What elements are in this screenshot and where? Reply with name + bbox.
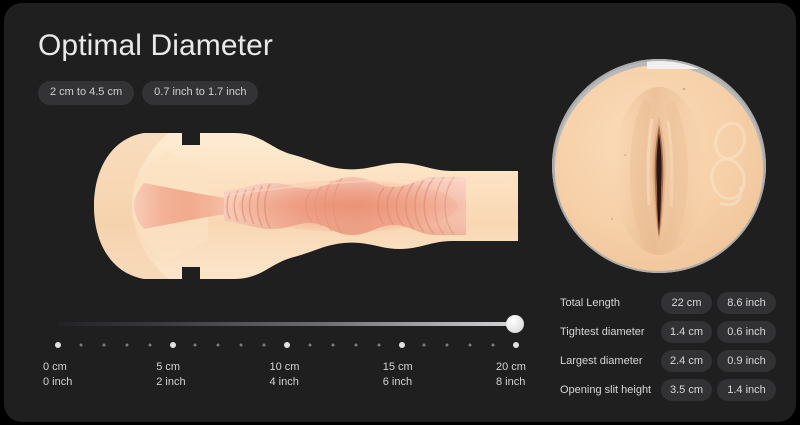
ruler-label-inch: 4 inch: [270, 375, 300, 390]
spec-value-cm: 22 cm: [661, 292, 712, 314]
spec-row: Total Length22 cm8.6 inch: [560, 292, 776, 314]
spec-label: Total Length: [560, 296, 620, 310]
ruler-tick-minor: [79, 344, 82, 347]
range-badge-inch: 0.7 inch to 1.7 inch: [142, 81, 258, 105]
ruler-tick-major: [170, 342, 176, 348]
ruler-label-inch: 6 inch: [383, 375, 413, 390]
spec-row: Largest diameter2.4 cm0.9 inch: [560, 350, 776, 372]
ruler-label-inch: 2 inch: [156, 375, 185, 390]
ruler-label: 0 cm0 inch: [43, 360, 72, 390]
range-badge-cm: 2 cm to 4.5 cm: [38, 81, 134, 105]
ruler-label-row: 0 cm0 inch5 cm2 inch10 cm4 inch15 cm6 in…: [38, 360, 533, 394]
ruler-tick-major: [284, 342, 290, 348]
range-badge-group: 2 cm to 4.5 cm 0.7 inch to 1.7 inch: [38, 81, 258, 105]
ruler-label-inch: 8 inch: [496, 375, 526, 390]
ruler-label-cm: 5 cm: [156, 360, 185, 375]
ruler-tick-minor: [240, 344, 243, 347]
ruler-label-cm: 20 cm: [496, 360, 526, 375]
ruler-tick-minor: [423, 344, 426, 347]
ruler-tick-major: [399, 342, 405, 348]
spec-value-inch: 8.6 inch: [717, 292, 776, 314]
product-cross-section-illustration: [48, 111, 528, 301]
spec-value-cm: 3.5 cm: [661, 379, 712, 401]
spec-value-inch: 0.6 inch: [717, 321, 776, 343]
spec-table: Total Length22 cm8.6 inchTightest diamet…: [560, 292, 776, 408]
spec-value-cm: 2.4 cm: [661, 350, 712, 372]
ruler-tick-minor: [125, 344, 128, 347]
spec-label: Tightest diameter: [560, 325, 645, 339]
ruler-tick-minor: [469, 344, 472, 347]
spec-row: Opening slit height3.5 cm1.4 inch: [560, 379, 776, 401]
spec-label: Largest diameter: [560, 354, 643, 368]
ruler-label: 15 cm6 inch: [383, 360, 413, 390]
spec-label: Opening slit height: [560, 383, 651, 397]
spec-row: Tightest diameter1.4 cm0.6 inch: [560, 321, 776, 343]
product-opening-photo: [552, 59, 766, 273]
ruler-tick-major: [513, 342, 519, 348]
ruler-tick-minor: [194, 344, 197, 347]
ruler-label: 20 cm8 inch: [496, 360, 526, 390]
ruler-tick-minor: [331, 344, 334, 347]
size-slider-track[interactable]: [58, 322, 516, 326]
ruler-label-cm: 0 cm: [43, 360, 72, 375]
ruler-tick-minor: [377, 344, 380, 347]
product-spec-card: Optimal Diameter 2 cm to 4.5 cm 0.7 inch…: [4, 3, 796, 422]
ruler-tick-minor: [446, 344, 449, 347]
size-slider-knob[interactable]: [506, 315, 524, 333]
ruler-tick-minor: [308, 344, 311, 347]
spec-value-inch: 0.9 inch: [717, 350, 776, 372]
ruler-label-inch: 0 inch: [43, 375, 72, 390]
ruler-tick-minor: [148, 344, 151, 347]
ruler-tick-row: [38, 339, 533, 351]
page-title: Optimal Diameter: [38, 29, 273, 63]
ruler-label-cm: 15 cm: [383, 360, 413, 375]
ruler-tick-minor: [492, 344, 495, 347]
ruler-tick-minor: [102, 344, 105, 347]
ruler-tick-minor: [217, 344, 220, 347]
ruler-label: 5 cm2 inch: [156, 360, 185, 390]
ruler-label-cm: 10 cm: [270, 360, 300, 375]
ruler-tick-major: [55, 342, 61, 348]
ruler-label: 10 cm4 inch: [270, 360, 300, 390]
spec-value-inch: 1.4 inch: [717, 379, 776, 401]
ruler-tick-minor: [263, 344, 266, 347]
spec-value-cm: 1.4 cm: [661, 321, 712, 343]
ruler-tick-minor: [354, 344, 357, 347]
size-ruler: 0 cm0 inch5 cm2 inch10 cm4 inch15 cm6 in…: [38, 308, 533, 398]
